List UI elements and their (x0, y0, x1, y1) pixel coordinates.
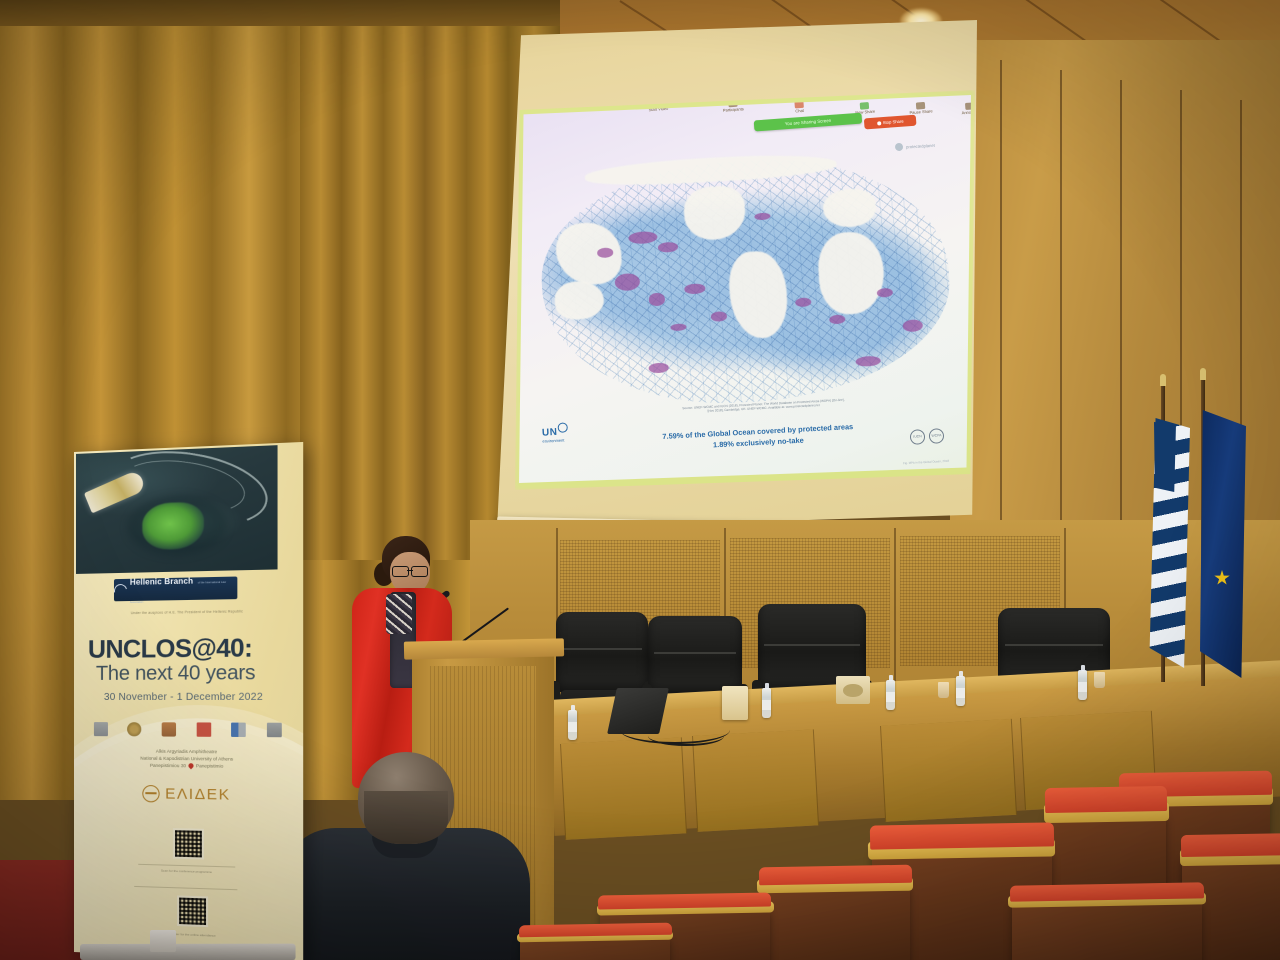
mpa-patch (710, 311, 727, 322)
org-name: Hellenic Branch (130, 576, 193, 586)
projected-slide: Mute Start Video Participants Chat (519, 95, 971, 483)
water-bottle (1078, 670, 1087, 700)
drinking-glass (938, 682, 949, 698)
sharing-screen-badge: You are Sharing Screen (754, 113, 863, 132)
conference-room-photo: Mute Start Video Participants Chat (0, 0, 1280, 960)
water-bottle (568, 710, 577, 740)
globe-icon (895, 142, 903, 150)
slide-statistics: 7.59% of the Global Ocean covered by pro… (618, 419, 899, 455)
un-environment-logo: UN environment (541, 422, 568, 443)
wcpa-logo: WCPA (928, 428, 944, 444)
greek-flag (1156, 382, 1170, 682)
mpa-patch (648, 293, 665, 306)
banner-title: UNCLOS@40: (82, 635, 301, 662)
patterned-blouse (386, 594, 412, 634)
elidek-ring-icon (143, 785, 160, 803)
projection-screen: Mute Start Video Participants Chat (497, 20, 977, 530)
eyeglasses (392, 566, 428, 575)
drinking-glass (1094, 672, 1105, 688)
zoom-chat-button[interactable]: Chat (795, 101, 805, 114)
seated-attendee (280, 752, 530, 960)
auditorium-seat (1012, 900, 1202, 960)
qr-code-programme[interactable] (173, 828, 204, 859)
eu-flag (1196, 376, 1212, 686)
desk-cable (648, 726, 724, 746)
water-bottle (762, 688, 771, 718)
zoom-chat-label: Chat (795, 108, 804, 114)
curtain-rail (0, 0, 560, 26)
banner-foot-peg (150, 930, 176, 952)
world-ocean-map (535, 150, 955, 413)
location-pin-icon (187, 762, 194, 769)
stop-share-button[interactable]: Stop Share (864, 115, 917, 130)
conference-banner: Hellenic Branch of the International Law… (74, 442, 303, 960)
attendee-head (358, 752, 454, 844)
banner-dates: 30 November - 1 December 2022 (82, 692, 303, 703)
banner-base (80, 944, 296, 960)
desk-front-panel (692, 729, 819, 831)
sponsor-logo-6 (267, 723, 282, 738)
sponsor-logo-4 (196, 722, 211, 736)
water-bottle (886, 680, 895, 710)
hellenic-branch-logo: Hellenic Branch of the International Law… (114, 577, 237, 602)
un-environment-label: environment (542, 438, 569, 444)
auditorium-seat (760, 884, 910, 960)
name-plate (722, 686, 748, 720)
pause-icon (916, 102, 925, 110)
sponsor-logo-2 (128, 722, 142, 736)
qr-code-registration[interactable] (177, 895, 208, 927)
banner-subtitle: The next 40 years (82, 662, 303, 684)
zoom-participants-label: Participants (723, 106, 744, 113)
water-bottle (956, 676, 965, 706)
banner-venue: Alkis Argyriadis Amphitheatre National &… (86, 748, 290, 771)
desk-front-panel (880, 719, 1017, 822)
elidek-logo: ΕΛΙΔΕΚ (86, 784, 290, 805)
desk-speaker (836, 676, 870, 704)
iucn-logo: IUCN (910, 429, 926, 445)
desk-front-panel (560, 737, 687, 839)
mpa-patch (614, 273, 639, 291)
un-laurel-icon (558, 422, 569, 433)
venue-city: Panepistimio (196, 763, 223, 768)
slide-credit: Fig. MPA in the Global Ocean, 2018 (902, 459, 948, 465)
auditorium-seat (520, 936, 670, 960)
venue-line-3: Panepistimiou 30 (150, 763, 186, 768)
iucn-wcpa-logos: IUCN WCPA (910, 428, 945, 445)
watermark-label: protectedplanet (906, 142, 935, 149)
stop-share-label: Stop Share (883, 119, 904, 126)
share-screen-icon (860, 102, 869, 110)
banner-auspices: Under the auspices of H.E. The President… (86, 609, 290, 616)
banner-sponsor-logos (84, 718, 293, 741)
protectedplanet-watermark: protectedplanet (895, 140, 935, 150)
sponsor-logo-3 (162, 722, 176, 736)
banner-photo (76, 445, 278, 574)
sponsor-logo-1 (94, 722, 108, 736)
sponsor-logo-5 (232, 723, 247, 737)
elidek-wordmark: ΕΛΙΔΕΚ (165, 785, 231, 803)
wave-swirl-icon (112, 581, 130, 599)
